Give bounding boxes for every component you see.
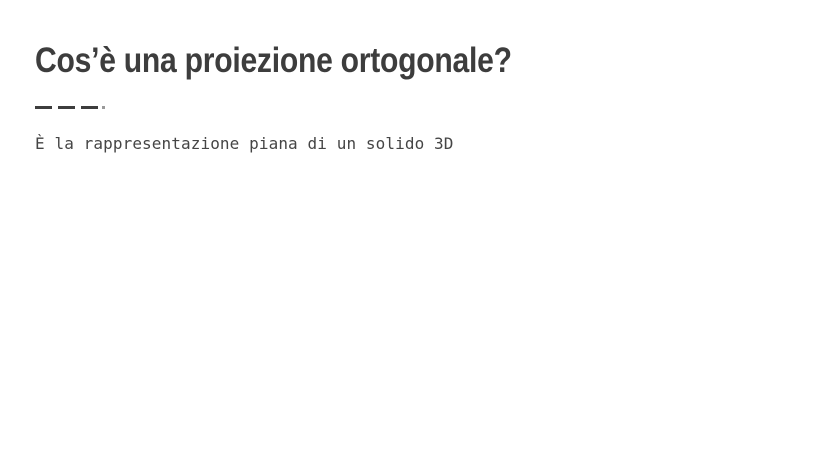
- title-divider: [35, 106, 105, 110]
- divider-dash-2: [58, 106, 75, 109]
- slide-body-text: È la rappresentazione piana di un solido…: [35, 132, 788, 156]
- divider-dash-3: [81, 106, 98, 109]
- slide-canvas: Cos’è una proiezione ortogonale? È la ra…: [0, 0, 828, 466]
- page-title: Cos’è una proiezione ortogonale?: [35, 40, 683, 82]
- divider-dash-1: [35, 106, 52, 109]
- slide-content-block: Cos’è una proiezione ortogonale? È la ra…: [35, 40, 788, 156]
- divider-dot: [102, 106, 105, 109]
